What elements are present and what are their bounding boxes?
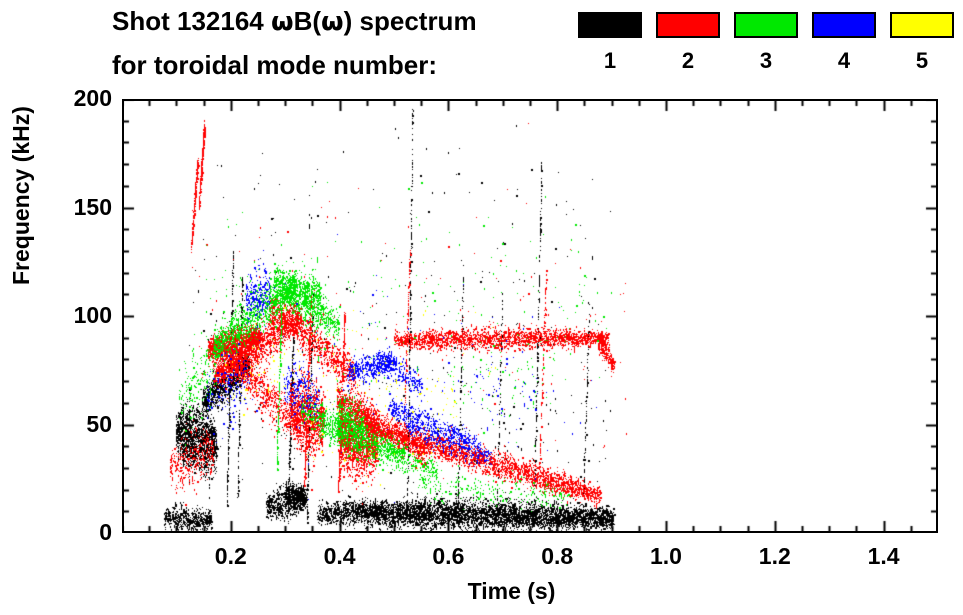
x-tick-label-1.2: 1.2 [735,545,815,568]
plot-area [122,99,938,533]
x-tick-label-0.8: 0.8 [517,545,597,568]
x-axis-title-wrapper: Time (s) [0,578,963,605]
x-tick-label-0.2: 0.2 [191,545,271,568]
spectrogram-figure: Shot 132164 ωB(ω) spectrum for toroidal … [0,0,963,615]
spectrogram-data-canvas [122,99,938,533]
x-tick-label-0.4: 0.4 [300,545,380,568]
x-tick-label-1.0: 1.0 [626,545,706,568]
x-tick-label-1.4: 1.4 [844,545,924,568]
x-tick-label-0.6: 0.6 [408,545,488,568]
y-axis-title: Frequency (kHz) [8,25,35,285]
x-axis-title: Time (s) [468,578,556,604]
